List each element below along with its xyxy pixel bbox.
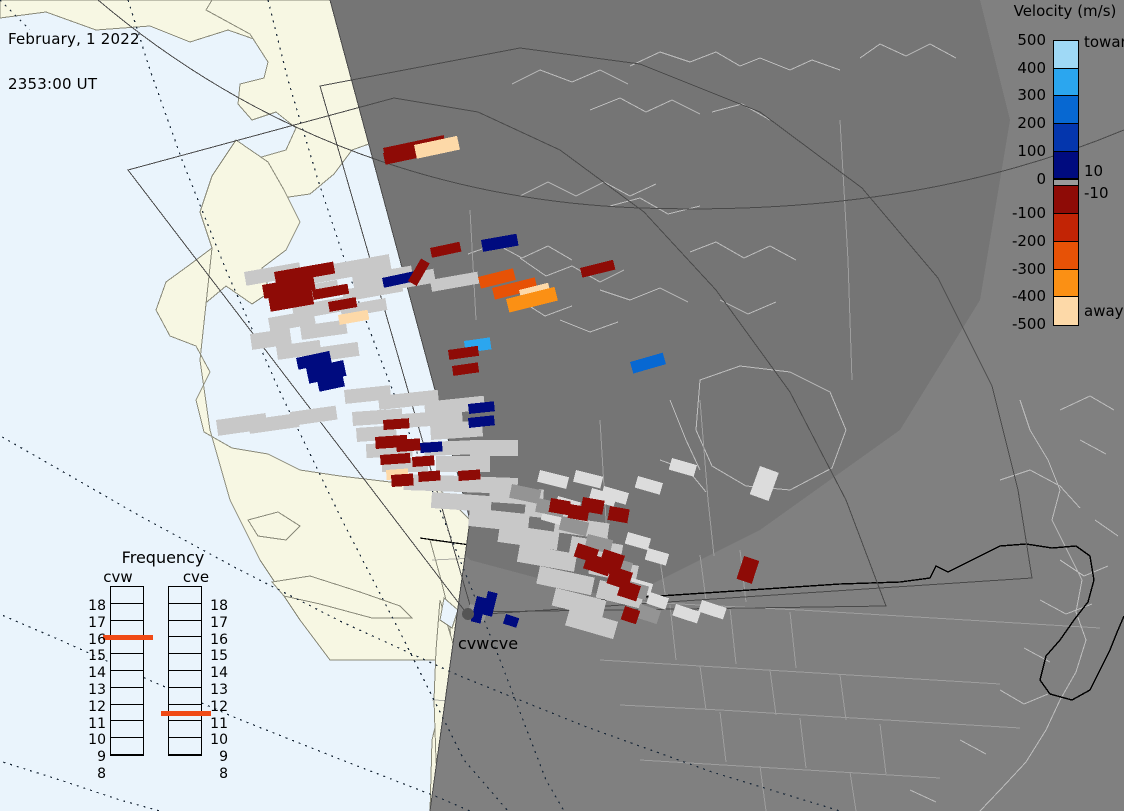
frequency-tick-cvw-12: 12	[84, 699, 106, 715]
velocity-cell	[420, 441, 443, 453]
colorbar-segment-0	[1054, 41, 1078, 69]
colorbar-tick-200: 200	[998, 114, 1046, 132]
colorbar-strip[interactable]	[1053, 40, 1079, 326]
frequency-column-cvw: cvw 18171615141312111098	[88, 568, 148, 756]
colorbar-segment-8	[1054, 242, 1078, 270]
velocity-cell	[391, 473, 414, 487]
frequency-bar-cve[interactable]	[168, 586, 202, 756]
frequency-column-name-cve: cve	[166, 568, 226, 586]
frequency-tick-cve-8: 8	[206, 766, 228, 782]
frequency-bar-cvw[interactable]	[110, 586, 144, 756]
frequency-tick-cvw-16: 16	[84, 632, 106, 648]
frequency-tick-cvw-14: 14	[84, 665, 106, 681]
title-time: 2353:00 UT	[8, 77, 140, 92]
frequency-column-cve: cve 18171615141312111098	[166, 568, 226, 756]
colorbar-tick-0: 0	[998, 170, 1046, 188]
colorbar-tick--400: -400	[998, 287, 1046, 305]
frequency-tick-cve-13: 13	[206, 682, 228, 698]
velocity-cell	[383, 418, 410, 430]
frequency-cell	[169, 671, 201, 688]
colorbar-segment-6	[1054, 186, 1078, 214]
frequency-cell	[111, 688, 143, 705]
frequency-cell	[169, 654, 201, 671]
colorbar-inner-pos-label: 10	[1084, 162, 1103, 180]
site-label-cvw: cvw	[458, 634, 489, 653]
frequency-tick-cve-18: 18	[206, 598, 228, 614]
colorbar-segment-9	[1054, 270, 1078, 298]
frequency-tick-cve-17: 17	[206, 615, 228, 631]
frequency-cell	[111, 604, 143, 621]
frequency-tick-cvw-13: 13	[84, 682, 106, 698]
frequency-column-name-cvw: cvw	[88, 568, 148, 586]
velocity-cell	[418, 470, 441, 482]
frequency-cell	[111, 671, 143, 688]
frequency-cell	[111, 654, 143, 671]
colorbar-tick--100: -100	[998, 204, 1046, 222]
colorbar-tick--300: -300	[998, 260, 1046, 278]
colorbar-segment-5	[1054, 179, 1078, 186]
frequency-marker-cvw	[103, 635, 153, 640]
colorbar-segment-1	[1054, 69, 1078, 97]
colorbar-tick-100: 100	[998, 142, 1046, 160]
frequency-cell	[169, 621, 201, 638]
frequency-tick-cve-12: 12	[206, 699, 228, 715]
colorbar-segment-3	[1054, 124, 1078, 152]
timestamp-title: February, 1 2022 2353:00 UT	[8, 2, 140, 122]
frequency-cell	[111, 721, 143, 738]
frequency-tick-cve-15: 15	[206, 648, 228, 664]
velocity-cell	[380, 453, 411, 465]
colorbar-title: Velocity (m/s)	[1004, 2, 1124, 20]
colorbar-inner-neg-label: -10	[1084, 184, 1109, 202]
frequency-cell	[169, 604, 201, 621]
title-date: February, 1 2022	[8, 32, 140, 47]
velocity-cell	[412, 455, 435, 467]
frequency-legend: Frequency cvw 18171615141312111098 cve 1…	[88, 548, 238, 783]
frequency-tick-cvw-10: 10	[84, 732, 106, 748]
colorbar-tick-500: 500	[998, 31, 1046, 49]
frequency-tick-cve-16: 16	[206, 632, 228, 648]
frequency-tick-cve-11: 11	[206, 716, 228, 732]
colorbar-segment-10	[1054, 297, 1078, 325]
velocity-colorbar: Velocity (m/s) 5004003002001000-100-200-…	[1004, 2, 1124, 342]
colorbar-tick-400: 400	[998, 59, 1046, 77]
colorbar-away-label: away	[1084, 302, 1124, 320]
velocity-cell	[396, 438, 421, 452]
frequency-cell	[111, 738, 143, 755]
site-label-cve: cve	[490, 634, 518, 653]
colorbar-segment-4	[1054, 152, 1078, 180]
radar-station-dot[interactable]	[462, 608, 474, 620]
frequency-cell	[169, 721, 201, 738]
frequency-tick-cvw-9: 9	[84, 749, 106, 765]
frequency-tick-cvw-8: 8	[84, 766, 106, 782]
colorbar-segment-7	[1054, 214, 1078, 242]
colorbar-segment-2	[1054, 96, 1078, 124]
colorbar-tick--200: -200	[998, 232, 1046, 250]
frequency-tick-cvw-11: 11	[84, 716, 106, 732]
frequency-tick-cvw-18: 18	[84, 598, 106, 614]
frequency-legend-title: Frequency	[88, 548, 238, 567]
frequency-cell	[111, 587, 143, 604]
colorbar-toward-label: toward	[1084, 33, 1124, 51]
colorbar-tick--500: -500	[998, 315, 1046, 333]
superdarn-velocity-map-app: February, 1 2022 2353:00 UT Velocity (m/…	[0, 0, 1124, 811]
frequency-cell	[169, 738, 201, 755]
colorbar-tick-300: 300	[998, 86, 1046, 104]
frequency-tick-cve-10: 10	[206, 732, 228, 748]
frequency-cell	[169, 688, 201, 705]
frequency-tick-cve-14: 14	[206, 665, 228, 681]
frequency-cell	[169, 587, 201, 604]
frequency-tick-cvw-15: 15	[84, 648, 106, 664]
frequency-cell	[111, 705, 143, 722]
frequency-tick-cvw-17: 17	[84, 615, 106, 631]
frequency-marker-cve	[161, 711, 211, 716]
frequency-cell	[169, 637, 201, 654]
frequency-tick-cve-9: 9	[206, 749, 228, 765]
velocity-cell	[458, 469, 481, 481]
